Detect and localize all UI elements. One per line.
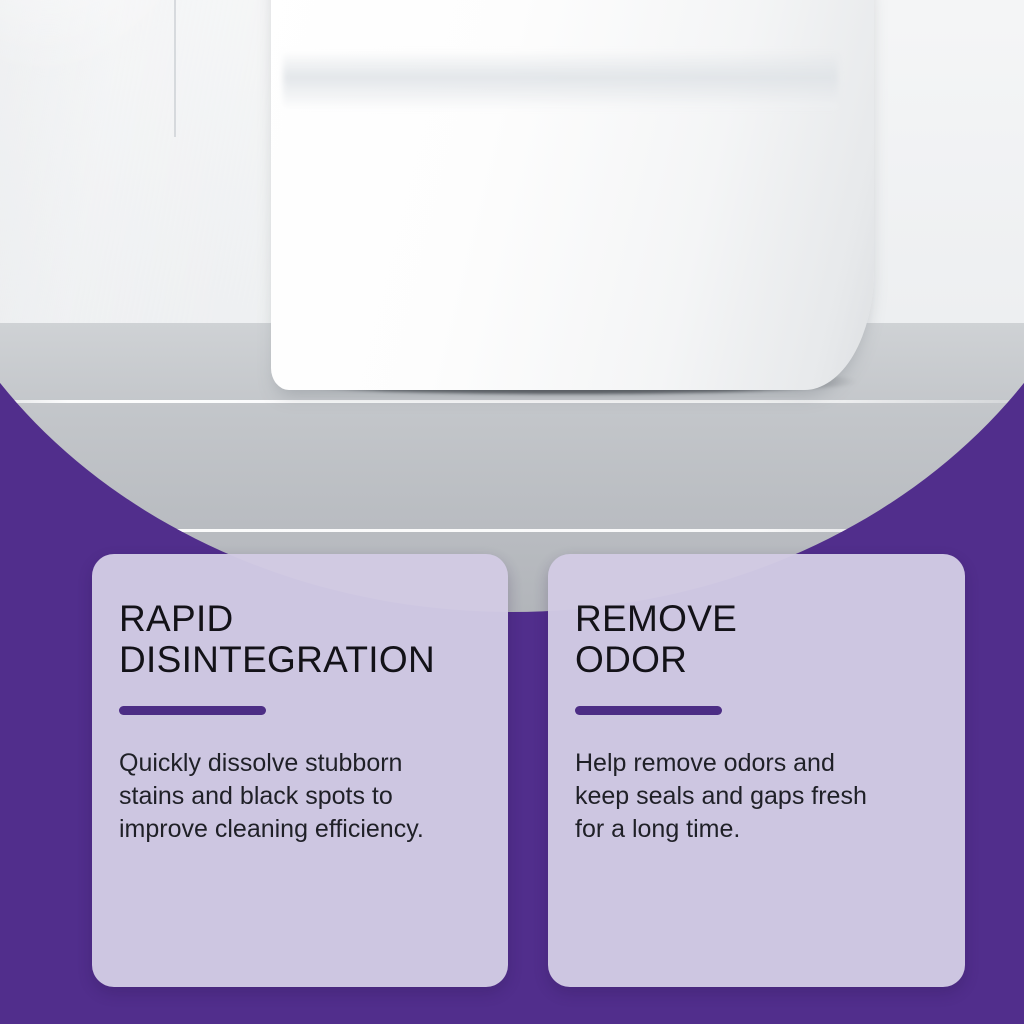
feature-card-accent-rule	[575, 706, 722, 715]
wall-highlight-secondary	[0, 0, 68, 34]
floor-grout-line-1	[0, 400, 1024, 403]
feature-card-remove-odor[interactable]: REMOVE ODOR Help remove odors and keep s…	[548, 554, 965, 987]
tile-seam-vertical-left	[174, 0, 176, 137]
floor-grout-line-2	[0, 529, 1024, 532]
feature-card-description: Quickly dissolve stubborn stains and bla…	[119, 747, 478, 846]
hero-circle-image	[0, 0, 1024, 612]
feature-card-rapid-disintegration[interactable]: RAPID DISINTEGRATION Quickly dissolve st…	[92, 554, 508, 987]
feature-card-title: REMOVE ODOR	[575, 598, 935, 680]
feature-card-title: RAPID DISINTEGRATION	[119, 598, 478, 680]
feature-card-description: Help remove odors and keep seals and gap…	[575, 747, 935, 846]
feature-card-accent-rule	[119, 706, 266, 715]
product-feature-banner: RAPID DISINTEGRATION Quickly dissolve st…	[0, 0, 1024, 1024]
toilet-bowl	[271, 0, 875, 390]
bathroom-scene	[0, 0, 1024, 612]
